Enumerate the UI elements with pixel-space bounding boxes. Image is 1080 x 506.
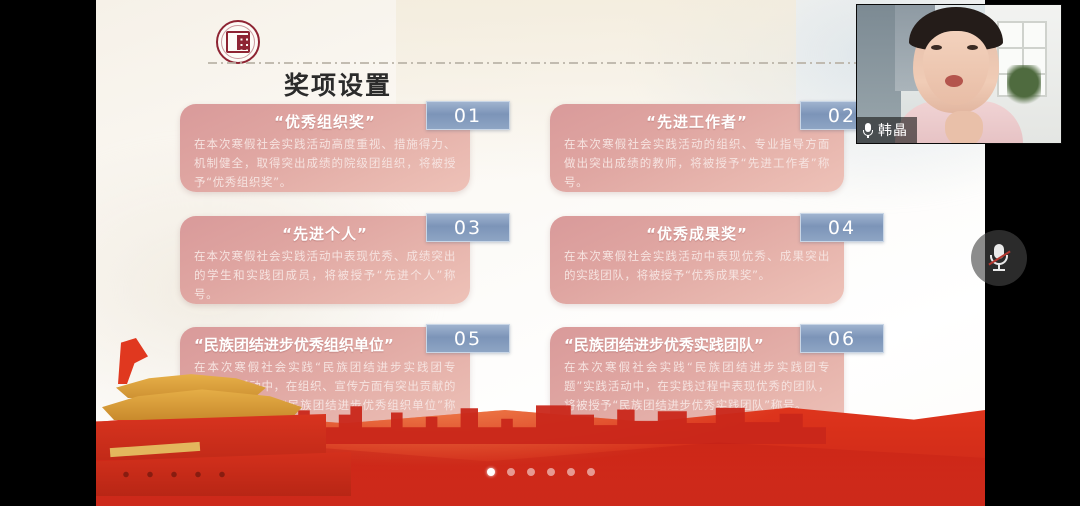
award-card-title: “民族团结进步优秀组织单位” xyxy=(194,335,456,355)
award-card-title: “民族团结进步优秀实践团队” xyxy=(564,335,830,355)
pagination-dot-6[interactable] xyxy=(587,468,595,476)
participant-hand xyxy=(945,111,983,144)
award-card-badge: 03 xyxy=(426,213,510,242)
microphone-icon xyxy=(863,123,873,138)
pagination-dot-1[interactable] xyxy=(487,468,495,476)
microphone-muted-icon xyxy=(990,244,1008,272)
award-card-body: 在本次寒假社会实践“民族团结进步实践团专题”实践活动中，在实践过程中表现优秀的团… xyxy=(564,358,830,414)
award-card-body: 在本次寒假社会实践活动中表现优秀、成绩突出的学生和实践团成员，将被授予“先进个人… xyxy=(194,247,456,303)
award-card-badge: 05 xyxy=(426,324,510,353)
screen-root: 奖项设置 “优秀组织奖” 在本次寒假社会实践活动高度重视、措施得力、机制健全，取… xyxy=(0,0,1080,506)
participant-eye-right xyxy=(967,45,978,50)
award-card-body: 在本次寒假社会实践活动的组织、专业指导方面做出突出成绩的教师，将被授予“先进工作… xyxy=(564,135,830,191)
award-card-title: “先进个人” xyxy=(194,224,456,244)
video-participant-tile[interactable]: 韩晶 xyxy=(856,4,1062,144)
participant-mouth xyxy=(945,75,963,87)
award-card-badge: 01 xyxy=(426,101,510,130)
award-card-badge: 04 xyxy=(800,213,884,242)
presentation-slide[interactable]: 奖项设置 “优秀组织奖” 在本次寒假社会实践活动高度重视、措施得力、机制健全，取… xyxy=(96,0,985,506)
pagination-dot-4[interactable] xyxy=(547,468,555,476)
page-title: 奖项设置 xyxy=(284,66,392,102)
mute-toggle-button[interactable] xyxy=(971,230,1027,286)
participant-eye-left xyxy=(931,45,942,50)
university-seal-logo xyxy=(216,20,260,64)
participant-name-bar: 韩晶 xyxy=(857,117,917,143)
award-card-body: 在本次寒假社会实践活动中表现优秀、成果突出的实践团队，将被授予“优秀成果奖”。 xyxy=(564,247,830,284)
award-card-title: “优秀成果奖” xyxy=(564,224,830,244)
pagination-dot-2[interactable] xyxy=(507,468,515,476)
pagination-dot-3[interactable] xyxy=(527,468,535,476)
award-card-title: “优秀组织奖” xyxy=(194,112,456,132)
award-card-body: 在本次寒假社会实践活动高度重视、措施得力、机制健全，取得突出成绩的院级团组织，将… xyxy=(194,135,456,191)
video-bg-plant xyxy=(1007,65,1041,109)
slide-pagination[interactable] xyxy=(96,468,985,476)
award-card-title: “先进工作者” xyxy=(564,112,830,132)
header-divider xyxy=(208,62,948,64)
award-card-badge: 06 xyxy=(800,324,884,353)
seal-emblem xyxy=(226,31,250,53)
participant-name-label: 韩晶 xyxy=(878,120,908,140)
pagination-dot-5[interactable] xyxy=(567,468,575,476)
